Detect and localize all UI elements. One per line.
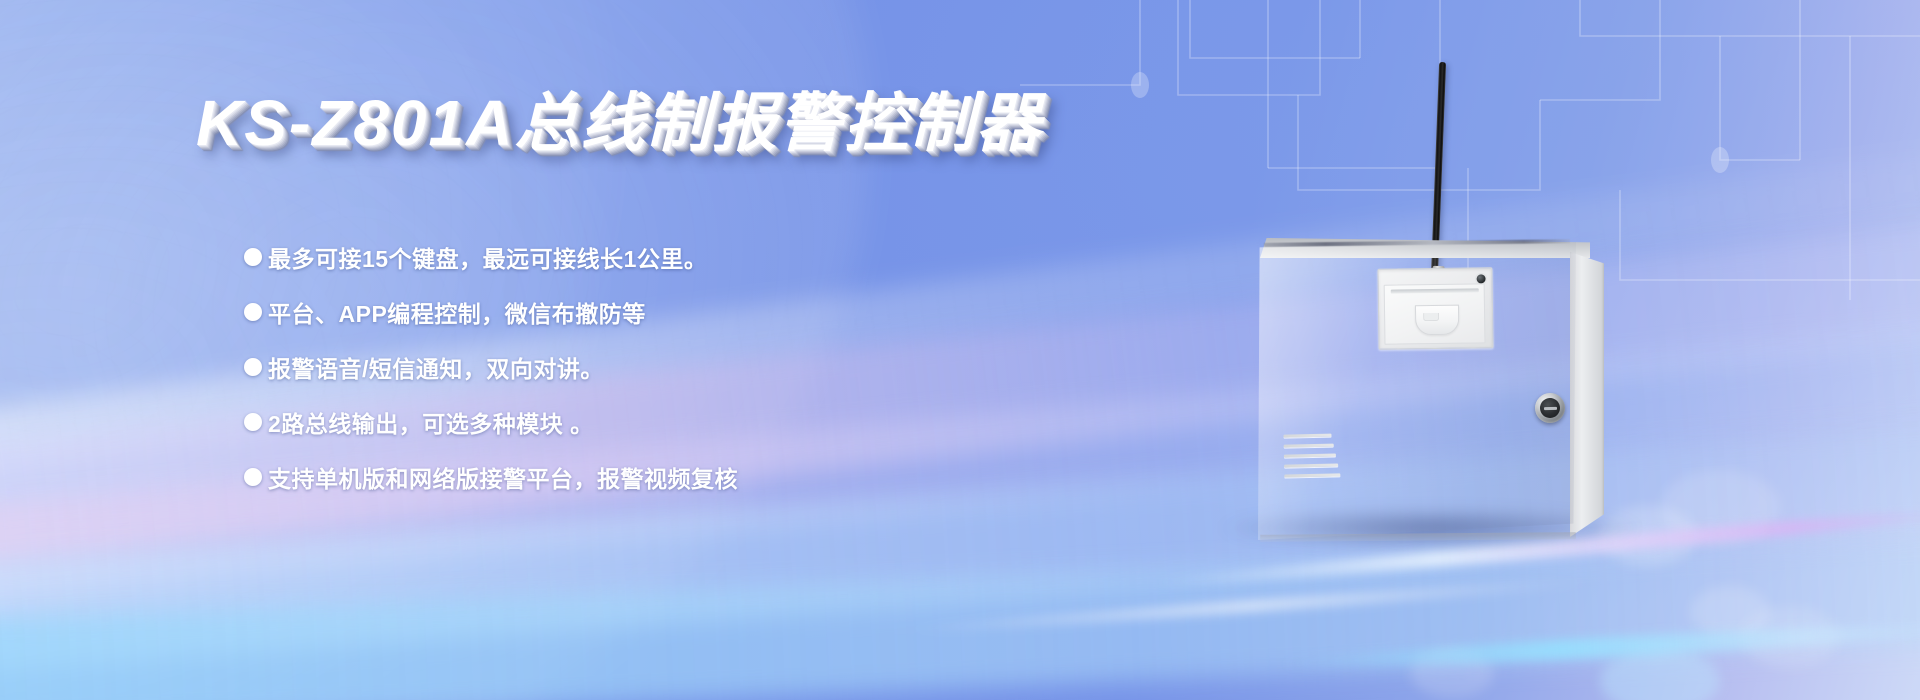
key-lock-core [1540, 398, 1560, 418]
bullet-dot-icon [244, 248, 262, 266]
feature-text: 报警语音/短信通知，双向对讲。 [268, 350, 604, 384]
recessed-keypad-panel [1377, 267, 1493, 350]
vent-slot [1284, 453, 1336, 457]
feature-list: 最多可接15个键盘，最远可接线长1公里。 平台、APP编程控制，微信布撤防等 报… [244, 240, 1064, 515]
list-item: 支持单机版和网络版接警平台，报警视频复核 [244, 460, 1064, 494]
bullet-dot-icon [244, 413, 262, 431]
bullet-dot-icon [244, 303, 262, 321]
list-item: 平台、APP编程控制，微信布撤防等 [244, 295, 1064, 329]
feature-text: 2路总线输出，可选多种模块 。 [268, 405, 594, 439]
vent-slot [1284, 444, 1334, 448]
feature-text: 平台、APP编程控制，微信布撤防等 [268, 295, 646, 329]
keypad-panel-slot [1391, 288, 1479, 293]
feature-text: 最多可接15个键盘，最远可接线长1公里。 [268, 240, 707, 274]
page-title: KS-Z801A总线制报警控制器 [196, 72, 1042, 164]
feature-text: 支持单机版和网络版接警平台，报警视频复核 [268, 460, 738, 494]
ventilation-slots [1283, 433, 1340, 484]
list-item: 最多可接15个键盘，最远可接线长1公里。 [244, 240, 1064, 274]
list-item: 报警语音/短信通知，双向对讲。 [244, 350, 1064, 384]
bokeh-circle-4 [1740, 606, 1840, 668]
bullet-dot-icon [244, 468, 262, 486]
vent-slot [1283, 434, 1331, 438]
bullet-dot-icon [244, 358, 262, 376]
status-led-icon [1477, 274, 1486, 283]
keypad-panel-tab-notch [1423, 313, 1439, 321]
key-lock-slot [1543, 407, 1556, 410]
vent-slot [1284, 473, 1340, 477]
product-banner: KS-Z801A总线制报警控制器 最多可接15个键盘，最远可接线长1公里。 平台… [0, 0, 1920, 700]
product-image [1180, 40, 1740, 660]
vent-slot [1284, 463, 1338, 467]
list-item: 2路总线输出，可选多种模块 。 [244, 405, 1064, 439]
